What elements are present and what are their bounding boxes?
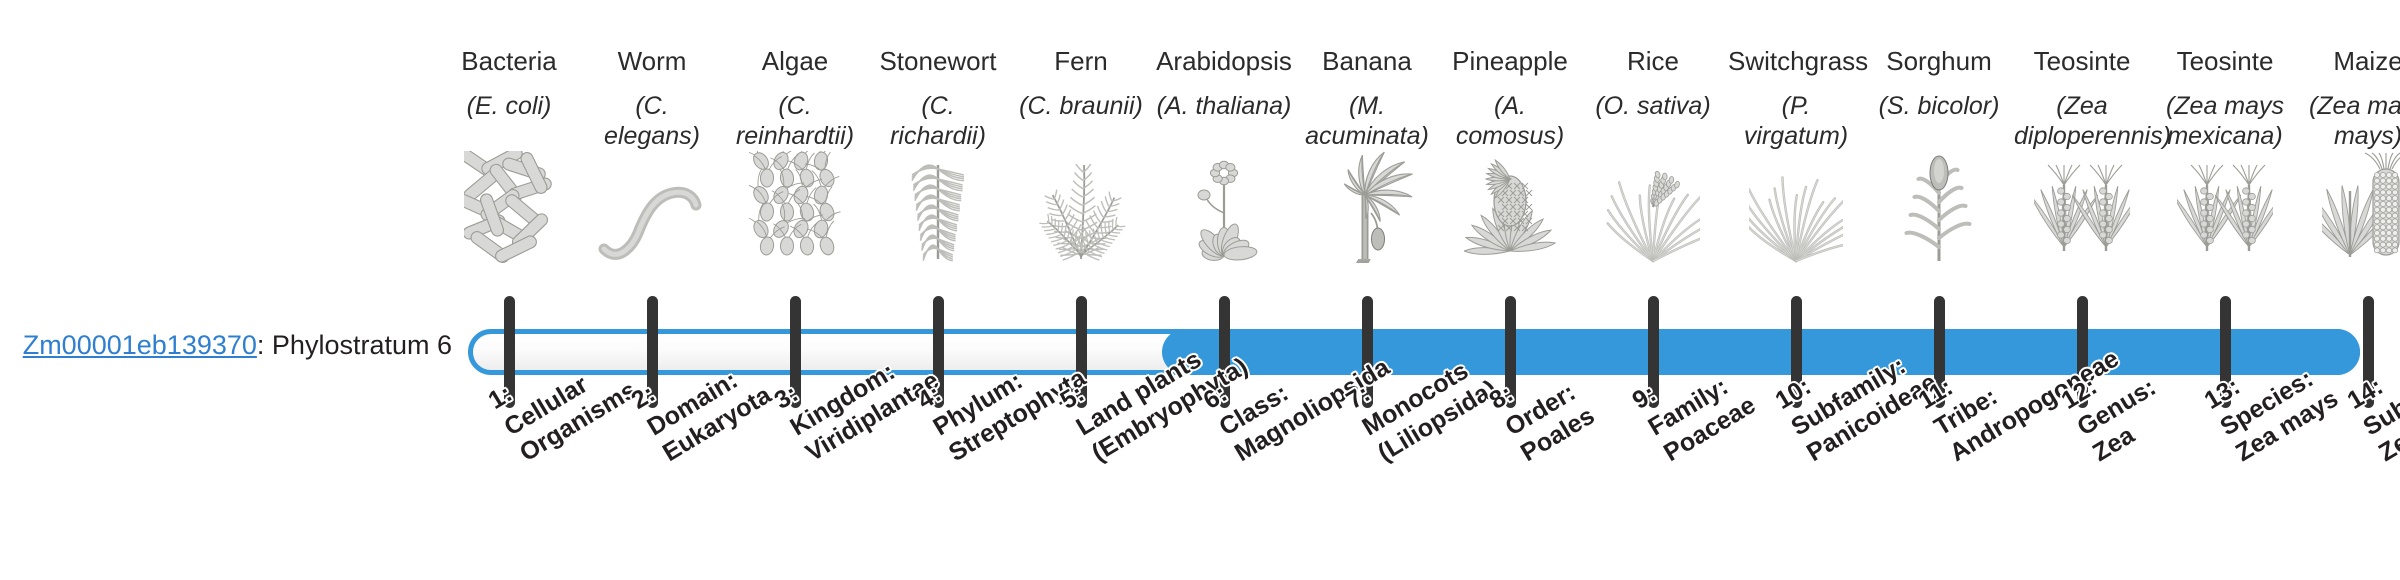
- species-common-name: Teosinte: [2157, 46, 2293, 77]
- pineapple-illustration-icon: [1442, 158, 1578, 263]
- species-common-name: Switchgrass: [1728, 46, 1864, 77]
- gene-id-link[interactable]: Zm00001eb139370: [23, 330, 257, 360]
- species-latin-name: (C. richardii): [870, 91, 1006, 151]
- species-column-switchgrass-10: Switchgrass(P. virgatum): [1728, 46, 1864, 151]
- maize-illustration-icon: [2300, 158, 2400, 263]
- species-column-algae-3: Algae(C. reinhardtii): [727, 46, 863, 151]
- species-latin-name: (P. virgatum): [1728, 91, 1864, 151]
- species-latin-name: (Zea diploperennis): [2014, 91, 2150, 151]
- species-common-name: Sorghum: [1871, 46, 2007, 77]
- stonewort-illustration-icon: [870, 158, 1006, 263]
- species-column-bacteria-1: Bacteria(E. coli): [441, 46, 577, 121]
- species-latin-name: (C. reinhardtii): [727, 91, 863, 151]
- species-common-name: Pineapple: [1442, 46, 1578, 77]
- species-common-name: Rice: [1585, 46, 1721, 77]
- species-latin-name: (M. acuminata): [1299, 91, 1435, 151]
- species-header-row: Bacteria(E. coli)Worm(C. elegans) Algae(…: [468, 46, 2368, 306]
- species-common-name: Stonewort: [870, 46, 1006, 77]
- species-latin-name: (A. thaliana): [1156, 91, 1292, 121]
- phylostratum-value-text: Phylostratum 6: [272, 330, 452, 360]
- species-column-banana-7: Banana(M. acuminata): [1299, 46, 1435, 151]
- rice-illustration-icon: [1585, 158, 1721, 263]
- species-latin-name: (C. elegans): [584, 91, 720, 151]
- bacteria-illustration-icon: [441, 158, 577, 263]
- species-column-stonewort-4: Stonewort(C. richardii): [870, 46, 1006, 151]
- species-column-maize-14: Maize(Zea mays mays): [2300, 46, 2400, 151]
- species-column-pineapple-8: Pineapple(A. comosus): [1442, 46, 1578, 151]
- gene-label-separator: :: [257, 330, 272, 360]
- species-latin-name: (Zea mays mexicana): [2157, 91, 2293, 151]
- teosinte-a-illustration-icon: [2014, 158, 2150, 263]
- species-column-fern-5: Fern(C. braunii): [1013, 46, 1149, 121]
- species-latin-name: (S. bicolor): [1871, 91, 2007, 121]
- species-column-worm-2: Worm(C. elegans): [584, 46, 720, 151]
- species-column-teosinte-12: Teosinte(Zea diploperennis): [2014, 46, 2150, 151]
- species-common-name: Arabidopsis: [1156, 46, 1292, 77]
- species-common-name: Bacteria: [441, 46, 577, 77]
- switchgrass-illustration-icon: [1728, 158, 1864, 263]
- worm-illustration-icon: [584, 158, 720, 263]
- species-column-rice-9: Rice(O. sativa): [1585, 46, 1721, 121]
- species-column-teosinte-13: Teosinte(Zea mays mexicana): [2157, 46, 2293, 151]
- phylostratum-timeline-figure: Zm00001eb139370: Phylostratum 6 Bacteria…: [0, 0, 2400, 580]
- species-common-name: Teosinte: [2014, 46, 2150, 77]
- arabidopsis-illustration-icon: [1156, 158, 1292, 263]
- species-common-name: Maize: [2300, 46, 2400, 77]
- banana-illustration-icon: [1299, 158, 1435, 263]
- fern-illustration-icon: [1013, 158, 1149, 263]
- species-latin-name: (A. comosus): [1442, 91, 1578, 151]
- species-latin-name: (Zea mays mays): [2300, 91, 2400, 151]
- algae-illustration-icon: [727, 158, 863, 263]
- species-common-name: Algae: [727, 46, 863, 77]
- gene-phylostratum-label: Zm00001eb139370: Phylostratum 6: [0, 331, 452, 361]
- species-latin-name: (O. sativa): [1585, 91, 1721, 121]
- species-common-name: Worm: [584, 46, 720, 77]
- species-column-arabidopsis-6: Arabidopsis(A. thaliana): [1156, 46, 1292, 121]
- species-common-name: Fern: [1013, 46, 1149, 77]
- species-latin-name: (E. coli): [441, 91, 577, 121]
- species-common-name: Banana: [1299, 46, 1435, 77]
- species-latin-name: (C. braunii): [1013, 91, 1149, 121]
- species-column-sorghum-11: Sorghum(S. bicolor): [1871, 46, 2007, 121]
- teosinte-b-illustration-icon: [2157, 158, 2293, 263]
- sorghum-illustration-icon: [1871, 158, 2007, 263]
